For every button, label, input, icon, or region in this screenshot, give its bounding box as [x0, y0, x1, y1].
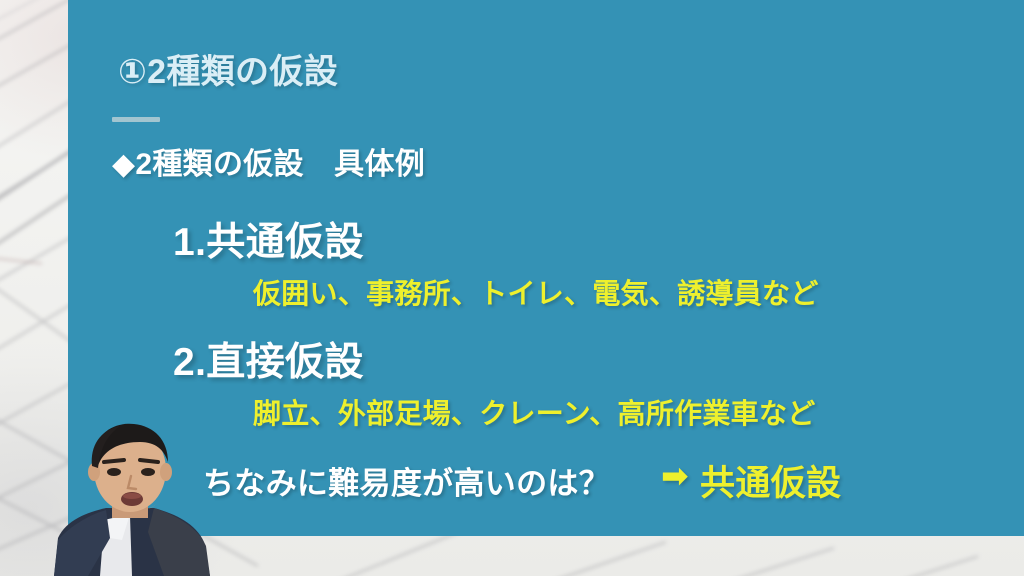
right-arrow-icon: ➡: [661, 456, 689, 495]
title-divider: [112, 117, 160, 122]
footnote-answer: 共通仮設: [700, 455, 841, 506]
list-item-heading-1: 1.共通仮設: [173, 211, 364, 267]
section-subtitle: ◆2種類の仮設 具体例: [112, 139, 425, 183]
list-item-examples-2: 脚立、外部足場、クレーン、高所作業車など: [253, 392, 816, 432]
slide-canvas: ①2種類の仮設 ◆2種類の仮設 具体例 1.共通仮設 仮囲い、事務所、トイレ、電…: [0, 0, 1024, 576]
page-title: ①2種類の仮設: [118, 44, 338, 93]
list-item-heading-2: 2.直接仮設: [173, 331, 364, 387]
presenter-video-inset: [44, 420, 244, 576]
footnote-question: ちなみに難易度が高いのは？: [203, 458, 610, 503]
list-item-examples-1: 仮囲い、事務所、トイレ、電気、誘導員など: [253, 272, 819, 312]
